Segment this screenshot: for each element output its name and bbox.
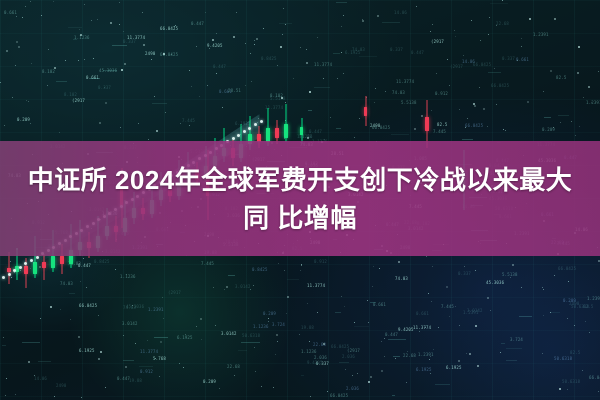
candle-body — [284, 124, 288, 138]
candle-body — [60, 256, 64, 264]
candle-body — [275, 128, 279, 138]
trendline-dot — [36, 256, 39, 259]
trendline-dot — [237, 134, 240, 137]
page-title: 中证所 2024年全球军费开支创下冷战以来最大同 比增幅 — [20, 161, 580, 237]
candle-body — [364, 107, 367, 116]
candle-body — [7, 268, 11, 272]
trendline-dot — [243, 130, 246, 133]
candle-body — [300, 127, 303, 135]
candle-body — [266, 128, 270, 142]
candle-body — [42, 262, 46, 268]
headline-line-2: 比增幅 — [277, 203, 357, 233]
candle-body — [24, 266, 28, 274]
trendline-dot — [232, 137, 235, 140]
candle-body — [33, 262, 37, 274]
trendline-dot — [2, 276, 5, 279]
trendline-dot — [260, 120, 263, 123]
candle-body — [425, 117, 429, 131]
headline-band: 中证所 2024年全球军费开支创下冷战以来最大同 比增幅 — [0, 141, 600, 256]
trendline-dot — [30, 259, 33, 262]
candle-body — [51, 256, 55, 268]
news-thumbnail-card: 7.44519.88(29170.842574.0374.0366.04251.… — [0, 0, 600, 400]
trendline-dot — [19, 266, 22, 269]
trendline-dot — [8, 273, 11, 276]
